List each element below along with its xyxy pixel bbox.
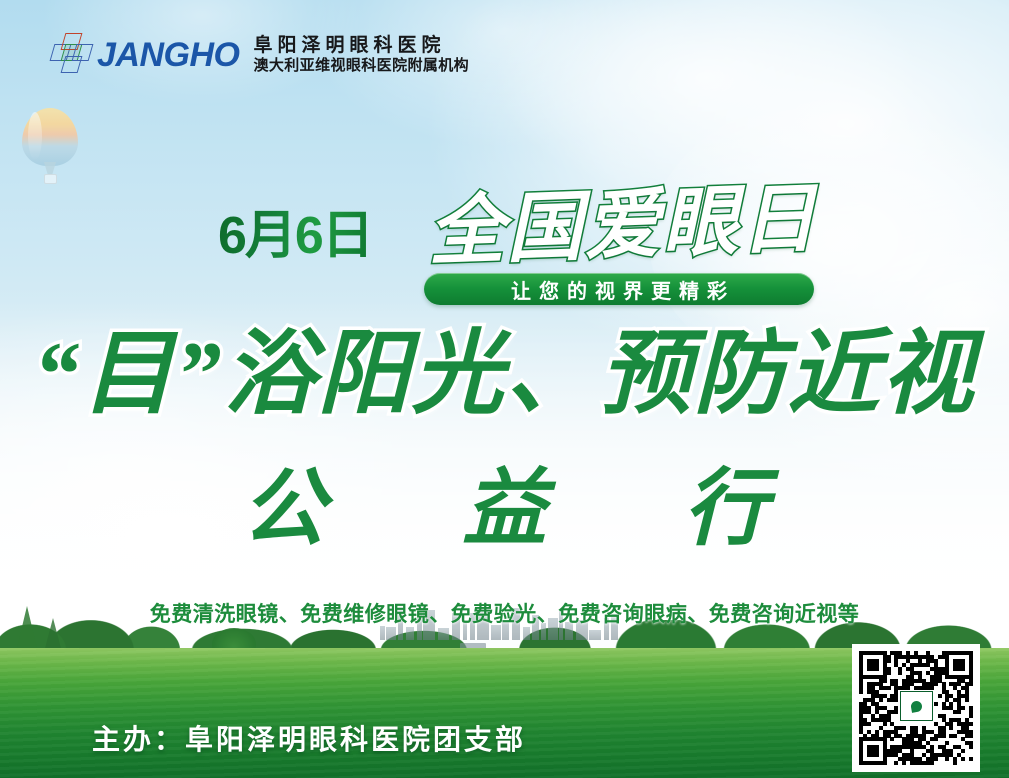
- hospital-name: 阜阳泽明眼科医院: [253, 35, 469, 57]
- header: JANGHO 阜阳泽明眼科医院 澳大利亚维视眼科医院附属机构: [52, 32, 469, 78]
- hospital-name-block: 阜阳泽明眼科医院 澳大利亚维视眼科医院附属机构: [253, 35, 469, 75]
- event-date: 6月6日: [218, 210, 372, 262]
- tagline-banner: 让您的视界更精彩: [424, 273, 814, 305]
- balloon-envelope: [22, 108, 78, 166]
- tagline-text: 让您的视界更精彩: [503, 275, 735, 304]
- brand-logo[interactable]: JANGHO: [52, 32, 239, 78]
- balloon-neck: [44, 162, 56, 174]
- jangho-cross-logo-icon: [52, 32, 92, 78]
- qr-code[interactable]: [852, 644, 980, 772]
- hospital-subtitle: 澳大利亚维视眼科医院附属机构: [253, 57, 469, 75]
- qr-center-logo-icon: [900, 691, 933, 721]
- organizer-text: 主办：阜阳泽明眼科医院团支部: [92, 718, 526, 758]
- hot-air-balloon-icon: [22, 108, 78, 186]
- poster-canvas: JANGHO 阜阳泽明眼科医院 澳大利亚维视眼科医院附属机构 6月6日 全国爱眼…: [0, 0, 1009, 778]
- event-title: 全国爱眼日: [427, 181, 819, 271]
- services-list: 免费清洗眼镜、免费维修眼镜、免费验光、免费咨询眼病、免费咨询近视等: [0, 598, 1009, 628]
- headline-line2: 公 益 行: [0, 466, 1009, 554]
- headline-line1: “目”浴阳光、预防近视: [0, 326, 1009, 423]
- qr-matrix: [859, 651, 973, 765]
- brand-logo-text: JANGHO: [97, 38, 239, 72]
- balloon-basket: [44, 174, 57, 184]
- hero-row: 6月6日 全国爱眼日: [0, 196, 1009, 276]
